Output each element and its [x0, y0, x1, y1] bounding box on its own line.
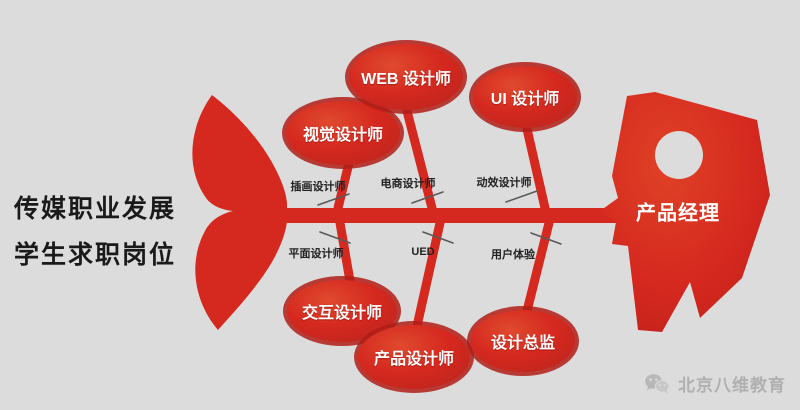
bone-web-designer	[407, 111, 432, 208]
bone-product-designer	[417, 223, 440, 326]
leader-motion-designer	[506, 191, 537, 202]
fish-tail	[192, 95, 287, 330]
small-label-motion-designer: 动效设计师	[477, 174, 532, 190]
small-label-user-experience: 用户体验	[491, 246, 535, 262]
bubble-design-director[interactable]	[467, 306, 579, 376]
small-label-ued: UED	[411, 246, 434, 258]
bubble-fill-product-designer	[358, 325, 470, 389]
small-label-illustration-designer: 插画设计师	[291, 178, 346, 194]
bubble-ui-designer[interactable]	[469, 62, 581, 132]
bone-ui-designer	[527, 129, 545, 208]
small-label-graphic-designer: 平面设计师	[289, 245, 344, 261]
watermark: 北京八维教育	[644, 371, 786, 396]
bubble-web-designer[interactable]	[345, 40, 467, 114]
small-label-ecommerce-designer: 电商设计师	[381, 175, 436, 191]
page-title: 传媒职业发展 学生求职岗位	[14, 186, 176, 278]
fish-eye	[655, 131, 703, 179]
bubble-fill-ui-designer	[473, 66, 577, 128]
bubble-fill-design-director	[471, 310, 575, 372]
page-title-line-1: 传媒职业发展	[14, 186, 176, 232]
page-title-line-2: 学生求职岗位	[14, 232, 176, 278]
watermark-text: 北京八维教育	[678, 371, 786, 396]
wechat-icon	[644, 373, 670, 395]
fishbone-diagram-canvas: 传媒职业发展 学生求职岗位 产品经理 视觉设计师WEB 设计师UI 设计师交互设…	[0, 0, 800, 410]
bubble-product-designer[interactable]	[354, 321, 474, 393]
bubble-fill-web-designer	[349, 44, 463, 110]
fish-head-label: 产品经理	[636, 197, 720, 226]
